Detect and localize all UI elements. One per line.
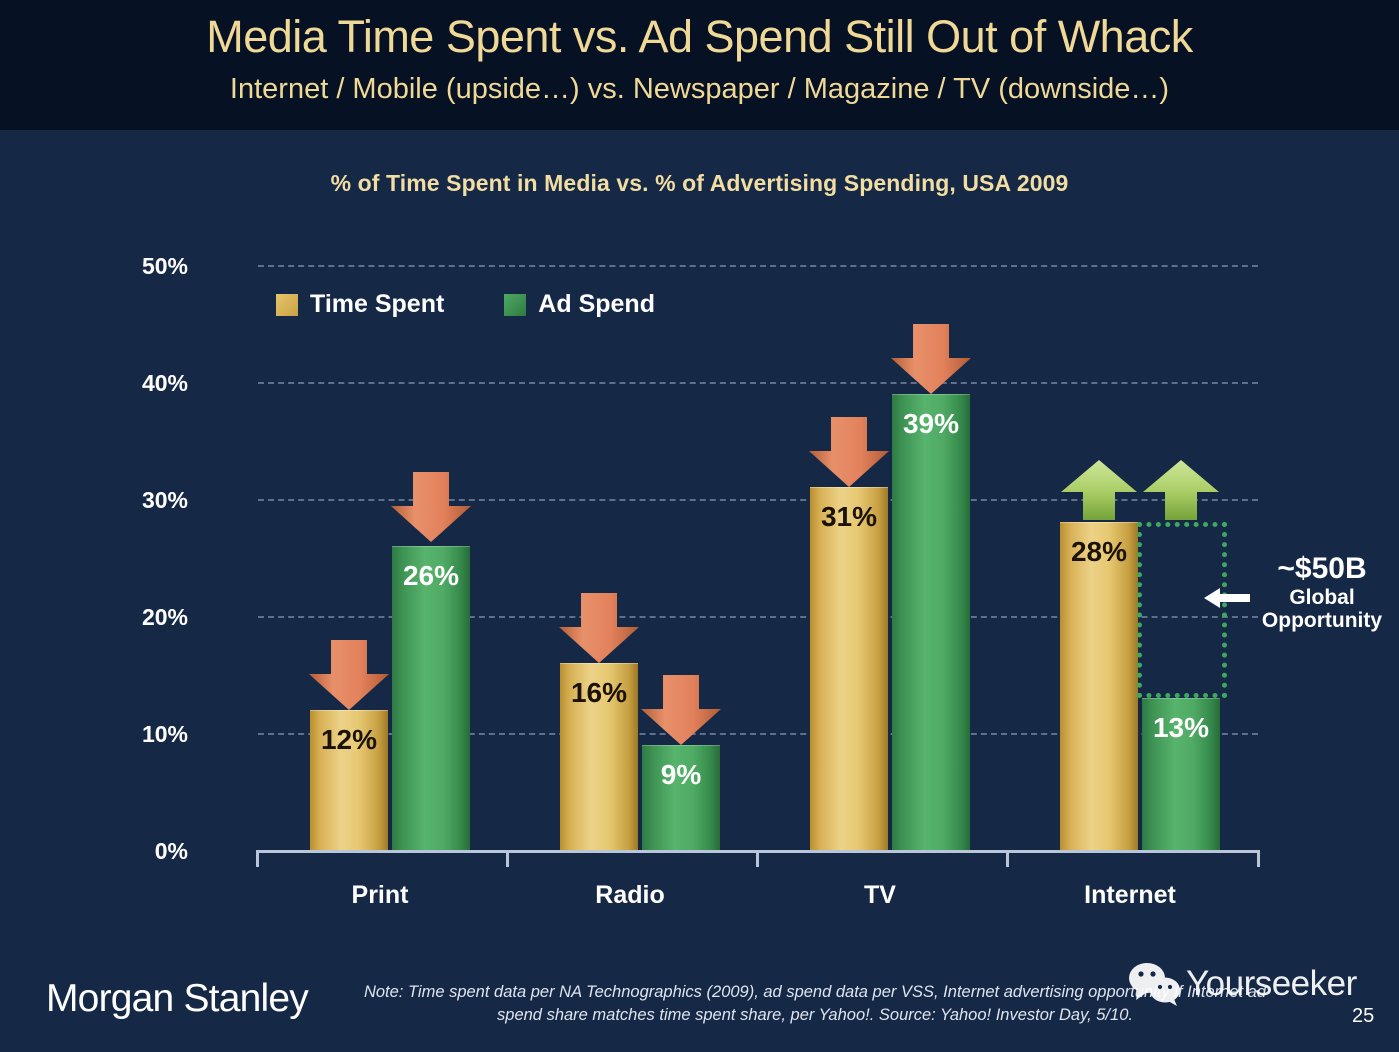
legend-item-time-spent: Time Spent [276,290,444,319]
down-arrow-icon [555,593,643,665]
category-label-print: Print [280,881,480,910]
callout-left-arrow-icon [1204,585,1250,611]
wechat-icon [1128,962,1182,1006]
bar-radio-ad-spend[interactable]: 9% [642,745,720,850]
callout-line-2: Opportunity [1247,609,1397,633]
y-tick-50: 50% [108,253,188,280]
x-axis-tick [1257,850,1260,867]
chart-legend: Time Spent Ad Spend [276,290,655,319]
bar-value-label: 13% [1142,712,1220,744]
bar-tv-ad-spend[interactable]: 39% [892,394,970,850]
legend-item-ad-spend: Ad Spend [504,290,655,319]
down-arrow-icon [305,640,393,712]
bar-print-time-spent[interactable]: 12% [310,710,388,850]
slide: Media Time Spent vs. Ad Spend Still Out … [0,0,1399,1052]
bar-value-label: 28% [1060,536,1138,568]
legend-swatch-icon [276,294,298,316]
bar-value-label: 9% [642,759,720,791]
page-number: 25 [1352,1005,1374,1028]
up-arrow-icon [1139,460,1223,522]
down-arrow-icon [887,324,975,396]
watermark: Yourseeker [1128,962,1357,1006]
y-tick-10: 10% [108,721,188,748]
bar-internet-time-spent[interactable]: 28% [1060,522,1138,850]
bar-value-label: 12% [310,724,388,756]
callout-line-1: Global [1247,586,1397,610]
slide-header: Media Time Spent vs. Ad Spend Still Out … [0,0,1399,130]
down-arrow-icon [387,472,475,544]
bar-value-label: 26% [392,560,470,592]
y-tick-20: 20% [108,604,188,631]
bar-internet-ad-spend[interactable]: 13% [1142,698,1220,850]
category-label-tv: TV [780,881,980,910]
bar-value-label: 31% [810,501,888,533]
up-arrow-icon [1057,460,1141,522]
slide-title: Media Time Spent vs. Ad Spend Still Out … [0,0,1399,59]
callout-amount: ~$50B [1247,552,1397,586]
watermark-text: Yourseeker [1186,964,1357,1004]
plot-area: Time Spent Ad Spend 12% 26% [258,265,1258,850]
slide-subtitle: Internet / Mobile (upside…) vs. Newspape… [0,59,1399,104]
bar-radio-time-spent[interactable]: 16% [560,663,638,850]
x-axis-tick [756,850,759,867]
legend-label: Ad Spend [538,290,655,319]
category-label-radio: Radio [530,881,730,910]
category-label-internet: Internet [1030,881,1230,910]
chart-title: % of Time Spent in Media vs. % of Advert… [0,170,1399,197]
bar-value-label: 39% [892,408,970,440]
y-axis-title-wrap: % of Total Media Consumption Time or Adv… [0,265,120,850]
gridline-50 [258,265,1258,267]
opportunity-callout: ~$50B Global Opportunity [1247,552,1397,633]
down-arrow-icon [637,675,725,747]
morgan-stanley-logo: Morgan Stanley [46,977,308,1021]
legend-swatch-icon [504,294,526,316]
y-tick-30: 30% [108,487,188,514]
bar-value-label: 16% [560,677,638,709]
legend-label: Time Spent [310,290,444,319]
bar-tv-time-spent[interactable]: 31% [810,487,888,850]
y-tick-40: 40% [108,370,188,397]
x-axis-tick [506,850,509,867]
down-arrow-icon [805,417,893,489]
x-axis-tick [1006,850,1009,867]
y-tick-0: 0% [108,838,188,865]
bar-print-ad-spend[interactable]: 26% [392,546,470,850]
x-axis-tick [256,850,259,867]
gridline-40 [258,382,1258,384]
